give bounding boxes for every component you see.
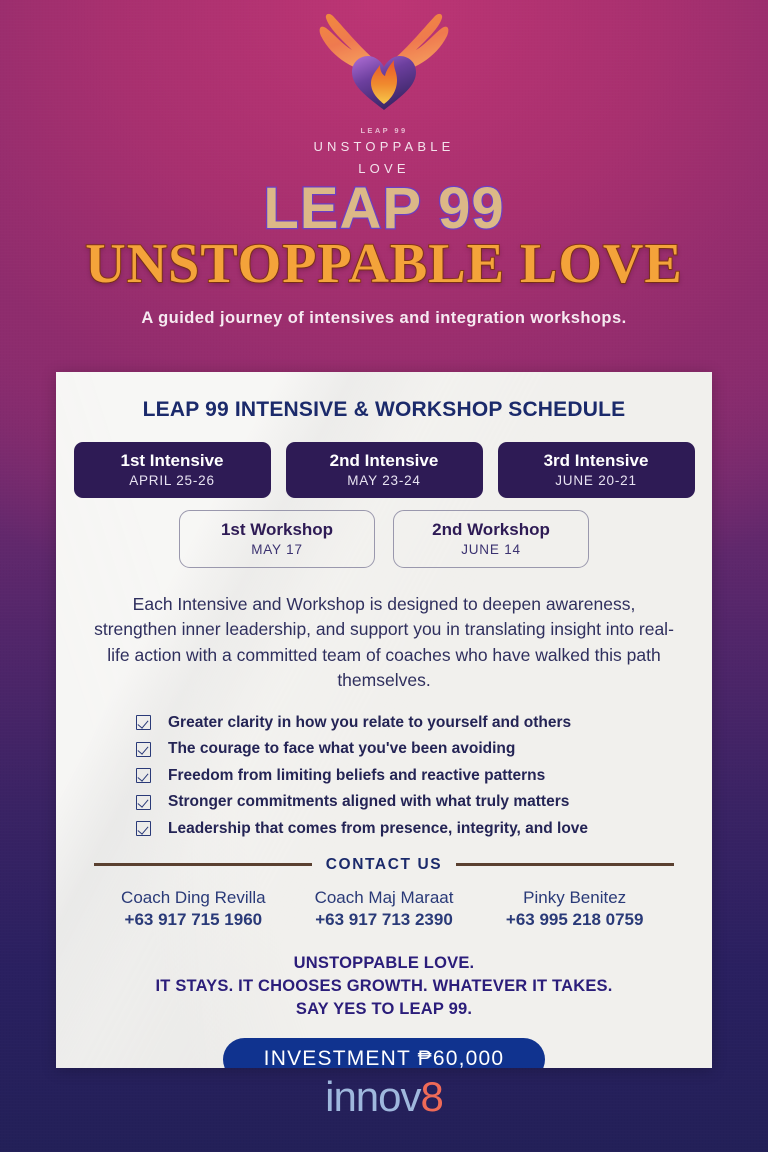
brand-logo: LEAP 99 UNSTOPPABLE LOVE (294, 12, 474, 172)
contact-card-3: Pinky Benitez +63 995 218 0759 (479, 888, 670, 930)
chip-date: APRIL 25-26 (84, 473, 261, 488)
contact-phone[interactable]: +63 917 713 2390 (289, 910, 480, 930)
poster-subtitle: A guided journey of intensives and integ… (0, 309, 768, 328)
logo-small-leap-text: LEAP 99 (294, 126, 474, 135)
benefits-list: Greater clarity in how you relate to you… (84, 714, 684, 838)
schedule-heading: LEAP 99 INTENSIVE & WORKSHOP SCHEDULE (84, 398, 684, 422)
checkbox-checked-icon (136, 742, 151, 757)
divider-left (94, 863, 312, 866)
contact-section-header: CONTACT US (84, 856, 684, 874)
schedule-chip-2nd-intensive[interactable]: 2nd Intensive MAY 23-24 (286, 442, 483, 498)
tagline-line-3: SAY YES TO LEAP 99. (84, 998, 684, 1021)
divider-right (456, 863, 674, 866)
intensives-row: 1st Intensive APRIL 25-26 2nd Intensive … (84, 442, 684, 498)
content-card: LEAP 99 INTENSIVE & WORKSHOP SCHEDULE 1s… (56, 372, 712, 1068)
schedule-chip-2nd-workshop[interactable]: 2nd Workshop JUNE 14 (393, 510, 589, 568)
contact-us-label: CONTACT US (326, 856, 442, 874)
list-item: Greater clarity in how you relate to you… (136, 714, 684, 732)
contact-phone[interactable]: +63 917 715 1960 (98, 910, 289, 930)
chip-date: MAY 23-24 (296, 473, 473, 488)
brand-eight-glyph: 8 (421, 1073, 443, 1120)
schedule-chip-3rd-intensive[interactable]: 3rd Intensive JUNE 20-21 (498, 442, 695, 498)
logo-small-title-line1: UNSTOPPABLE (294, 138, 474, 157)
contact-card-2: Coach Maj Maraat +63 917 713 2390 (289, 888, 480, 930)
workshops-row: 1st Workshop MAY 17 2nd Workshop JUNE 14 (84, 510, 684, 568)
schedule-chip-1st-workshop[interactable]: 1st Workshop MAY 17 (179, 510, 375, 568)
tagline-line-1: UNSTOPPABLE LOVE. (84, 952, 684, 975)
logo-small-title-line2: LOVE (294, 160, 474, 179)
list-item: Leadership that comes from presence, int… (136, 820, 684, 838)
list-item: Freedom from limiting beliefs and reacti… (136, 767, 684, 785)
phoenix-heart-flame-icon (296, 12, 472, 132)
benefit-text: Freedom from limiting beliefs and reacti… (168, 767, 545, 785)
contact-name: Coach Maj Maraat (289, 888, 480, 908)
contact-name: Coach Ding Revilla (98, 888, 289, 908)
benefit-text: Leadership that comes from presence, int… (168, 820, 588, 838)
benefit-text: Stronger commitments aligned with what t… (168, 793, 569, 811)
chip-title: 3rd Intensive (508, 451, 685, 471)
checkbox-checked-icon (136, 795, 151, 810)
contacts-row: Coach Ding Revilla +63 917 715 1960 Coac… (84, 888, 684, 930)
benefit-text: Greater clarity in how you relate to you… (168, 714, 571, 732)
poster-title-unstoppable-love: UNSTOPPABLE LOVE (0, 235, 768, 294)
investment-button[interactable]: INVESTMENT ₱60,000 (223, 1038, 545, 1068)
benefit-text: The courage to face what you've been avo… (168, 740, 515, 758)
chip-title: 1st Intensive (84, 451, 261, 471)
contact-phone[interactable]: +63 995 218 0759 (479, 910, 670, 930)
checkbox-checked-icon (136, 715, 151, 730)
poster-title-leap99: LEAP 99 (0, 178, 768, 239)
chip-title: 2nd Workshop (404, 520, 578, 540)
checkbox-checked-icon (136, 821, 151, 836)
checkbox-checked-icon (136, 768, 151, 783)
brand-prefix-text: innov (325, 1073, 420, 1120)
innov8-logo: innov8 (0, 1076, 768, 1118)
chip-title: 1st Workshop (190, 520, 364, 540)
list-item: Stronger commitments aligned with what t… (136, 793, 684, 811)
chip-date: JUNE 20-21 (508, 473, 685, 488)
chip-date: JUNE 14 (404, 542, 578, 557)
chip-title: 2nd Intensive (296, 451, 473, 471)
footer: innov8 (0, 1076, 768, 1118)
schedule-chip-1st-intensive[interactable]: 1st Intensive APRIL 25-26 (74, 442, 271, 498)
contact-card-1: Coach Ding Revilla +63 917 715 1960 (98, 888, 289, 930)
tagline-line-2: IT STAYS. IT CHOOSES GROWTH. WHATEVER IT… (84, 975, 684, 998)
list-item: The courage to face what you've been avo… (136, 740, 684, 758)
contact-name: Pinky Benitez (479, 888, 670, 908)
description-paragraph: Each Intensive and Workshop is designed … (84, 592, 684, 694)
poster-header: LEAP 99 UNSTOPPABLE LOVE LEAP 99 UNSTOPP… (0, 0, 768, 328)
closing-tagline: UNSTOPPABLE LOVE. IT STAYS. IT CHOOSES G… (84, 952, 684, 1022)
chip-date: MAY 17 (190, 542, 364, 557)
